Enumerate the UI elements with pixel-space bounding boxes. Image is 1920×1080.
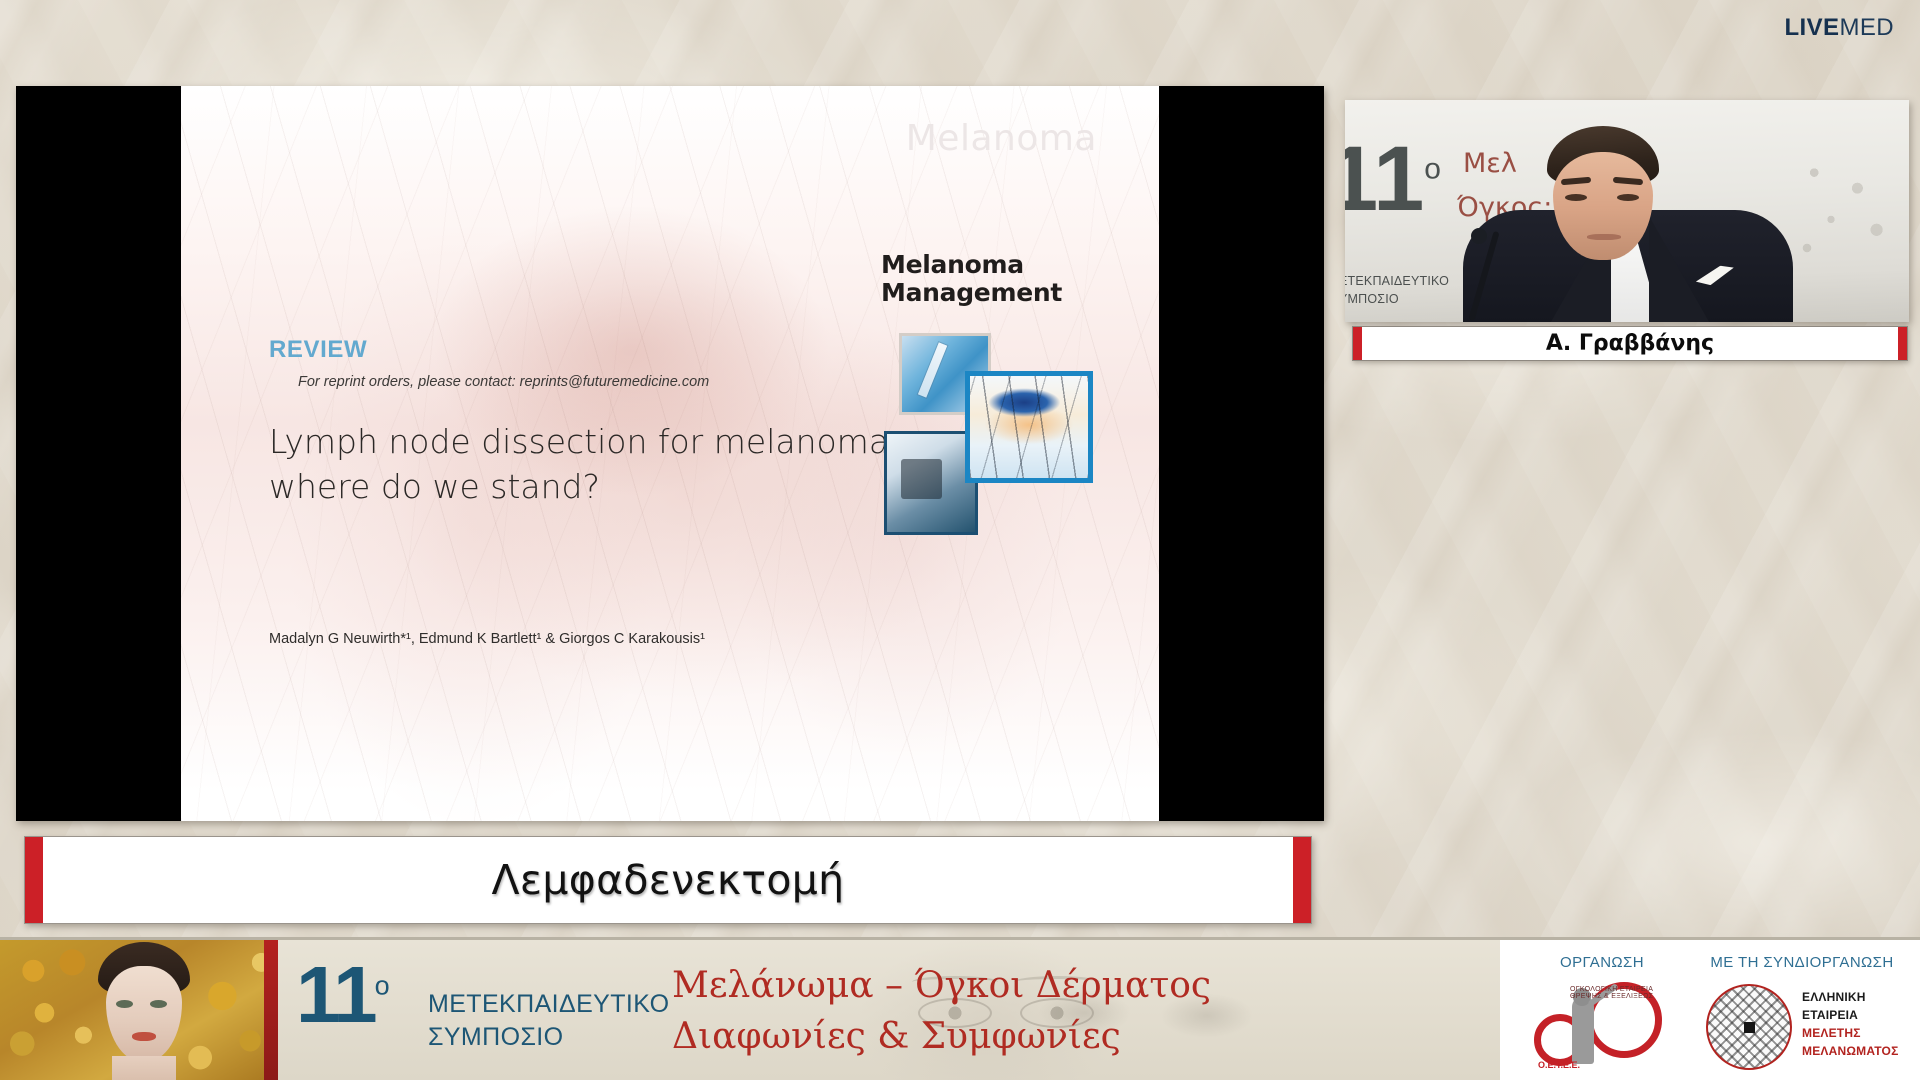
backdrop-number: 11ο [1345, 138, 1441, 221]
event-banner: 11ο ΜΕΤΕΚΠΑΙΔΕΥΤΙΚΟ ΣΥΜΠΟΣΙΟ Μελάνωμα – … [0, 937, 1920, 1080]
radiotherapy-machine-photo [884, 431, 978, 535]
banner-main-content: 11ο ΜΕΤΕΚΠΑΙΔΕΥΤΙΚΟ ΣΥΜΠΟΣΙΟ Μελάνωμα – … [278, 940, 1500, 1080]
organiser-caption: ΟΡΓΑΝΩΣΗ [1514, 954, 1690, 971]
speaker-eye-left [1565, 194, 1587, 201]
klimt-neck [112, 1056, 176, 1080]
journal-name-line-1: Melanoma [881, 251, 1099, 279]
melanoma-management-journal-logo: Melanoma Management [881, 251, 1099, 541]
backdrop-subtitle-line-2: ΥΜΠΟΣΙΟ [1345, 290, 1449, 308]
klimt-portrait-artwork [0, 940, 278, 1080]
paper-title: Lymph node dissection for melanoma: wher… [269, 420, 949, 510]
speaker-name-bar: Α. Γραββάνης [1352, 326, 1908, 361]
klimt-eye-right [150, 1000, 167, 1008]
paper-authors: Madalyn G Neuwirth*¹, Edmund K Bartlett¹… [269, 631, 705, 647]
backdrop-number-text: 11 [1345, 128, 1424, 230]
co-organiser-caption: ΜΕ ΤΗ ΣΥΝΔΙΟΡΓΑΝΩΣΗ [1690, 954, 1914, 971]
backdrop-degree-symbol: ο [1424, 152, 1441, 185]
skin-cross-section-illustration [965, 371, 1093, 483]
speaker-figure [1463, 126, 1793, 322]
speaker-video-feed[interactable]: 11ο Μελ Όγκος: ΕΤΕΚΠΑΙΔΕΥΤΙΚΟ ΥΜΠΟΣΙΟ [1345, 100, 1909, 322]
presentation-slide: Melanoma REVIEW For reprint orders, plea… [181, 86, 1159, 821]
journal-name: Melanoma Management [881, 251, 1099, 307]
microphone-head [1471, 228, 1487, 244]
oetee-logo: ΟΓΚΟΛΟΓΙΚΗ ΕΤΑΙΡΕΙΑ ΘΡΕΨΗΣ & ΕΞΕΛΙΞΕΩΣ Ο… [1524, 980, 1680, 1072]
co-organiser-line-4: ΜΕΛΑΝΩΜΑΤΟΣ [1802, 1042, 1898, 1060]
symposium-theme-line-1: Μελάνωμα – Όγκοι Δέρματος [672, 960, 1211, 1011]
paper-title-line-2: where do we stand? [269, 465, 949, 510]
symposium-kind: ΜΕΤΕΚΠΑΙΔΕΥΤΙΚΟ ΣΥΜΠΟΣΙΟ [428, 988, 669, 1054]
co-organiser-name: ΕΛΛΗΝΙΚΗ ΕΤΑΙΡΕΙΑ ΜΕΛΕΤΗΣ ΜΕΛΑΝΩΜΑΤΟΣ [1802, 988, 1898, 1060]
speaker-eye-right [1617, 194, 1639, 201]
organiser-block: ΟΡΓΑΝΩΣΗ ΟΓΚΟΛΟΓΙΚΗ ΕΤΑΙΡΕΙΑ ΘΡΕΨΗΣ & ΕΞ… [1514, 940, 1690, 1080]
journal-name-line-2: Management [881, 279, 1099, 307]
melanoma-watermark-text: Melanoma [906, 118, 1097, 159]
brand-med-text: MED [1839, 14, 1894, 41]
symposium-number-text: 11 [296, 950, 375, 1039]
paper-title-line-1: Lymph node dissection for melanoma: [269, 420, 949, 465]
co-organiser-line-3: ΜΕΛΕΤΗΣ [1802, 1024, 1898, 1042]
banner-organisation-logos: ΟΡΓΑΝΩΣΗ ΟΓΚΟΛΟΓΙΚΗ ΕΤΑΙΡΕΙΑ ΘΡΕΨΗΣ & ΕΞ… [1500, 940, 1920, 1080]
topic-title-bar: Λεμφαδενεκτομή [24, 836, 1312, 924]
speaker-bar-right-accent [1898, 327, 1907, 360]
backdrop-decorative-motif [1783, 144, 1903, 274]
co-organiser-line-1: ΕΛΛΗΝΙΚΗ [1802, 988, 1898, 1006]
topic-bar-right-accent [1293, 837, 1311, 923]
reprint-note: For reprint orders, please contact: repr… [298, 374, 709, 390]
klimt-face [106, 966, 182, 1062]
symposium-theme: Μελάνωμα – Όγκοι Δέρματος Διαφωνίες & Συ… [672, 960, 1211, 1062]
livemed-logo: LIVEMED [1785, 16, 1895, 40]
melanoma-society-seal-logo [1706, 984, 1792, 1070]
topic-title-text: Λεμφαδενεκτομή [492, 856, 845, 904]
oetee-arc-text: ΟΓΚΟΛΟΓΙΚΗ ΕΤΑΙΡΕΙΑ ΘΡΕΨΗΣ & ΕΞΕΛΙΞΕΩΣ [1570, 986, 1680, 1058]
symposium-kind-line-1: ΜΕΤΕΚΠΑΙΔΕΥΤΙΚΟ [428, 988, 669, 1021]
symposium-degree-symbol: ο [375, 970, 390, 1000]
klimt-eye-left [116, 1000, 133, 1008]
symposium-kind-line-2: ΣΥΜΠΟΣΙΟ [428, 1021, 669, 1054]
speaker-name-text: Α. Γραββάνης [1546, 331, 1714, 356]
oetee-acronym: Ο.Ε.Τ.Ε.Ε. [1538, 1060, 1580, 1070]
slide-viewer[interactable]: Melanoma REVIEW For reprint orders, plea… [16, 86, 1324, 821]
co-organiser-line-2: ΕΤΑΙΡΕΙΑ [1802, 1006, 1898, 1024]
speaker-bar-left-accent [1353, 327, 1362, 360]
backdrop-subtitle: ΕΤΕΚΠΑΙΔΕΥΤΙΚΟ ΥΜΠΟΣΙΟ [1345, 272, 1449, 308]
klimt-red-strip [264, 940, 278, 1080]
speaker-mouth [1587, 234, 1621, 240]
symposium-theme-line-2: Διαφωνίες & Συμφωνίες [672, 1011, 1211, 1062]
speaker-video-panel[interactable]: 11ο Μελ Όγκος: ΕΤΕΚΠΑΙΔΕΥΤΙΚΟ ΥΜΠΟΣΙΟ [1345, 100, 1909, 322]
klimt-lips [132, 1032, 156, 1041]
review-label: REVIEW [269, 336, 367, 364]
symposium-number: 11ο [296, 958, 390, 1032]
co-organiser-block: ΜΕ ΤΗ ΣΥΝΔΙΟΡΓΑΝΩΣΗ ΕΛΛΗΝΙΚΗ ΕΤΑΙΡΕΙΑ ΜΕ… [1690, 940, 1914, 1080]
brand-live-text: LIVE [1785, 14, 1840, 41]
topic-bar-left-accent [25, 837, 43, 923]
backdrop-subtitle-line-1: ΕΤΕΚΠΑΙΔΕΥΤΙΚΟ [1345, 272, 1449, 290]
